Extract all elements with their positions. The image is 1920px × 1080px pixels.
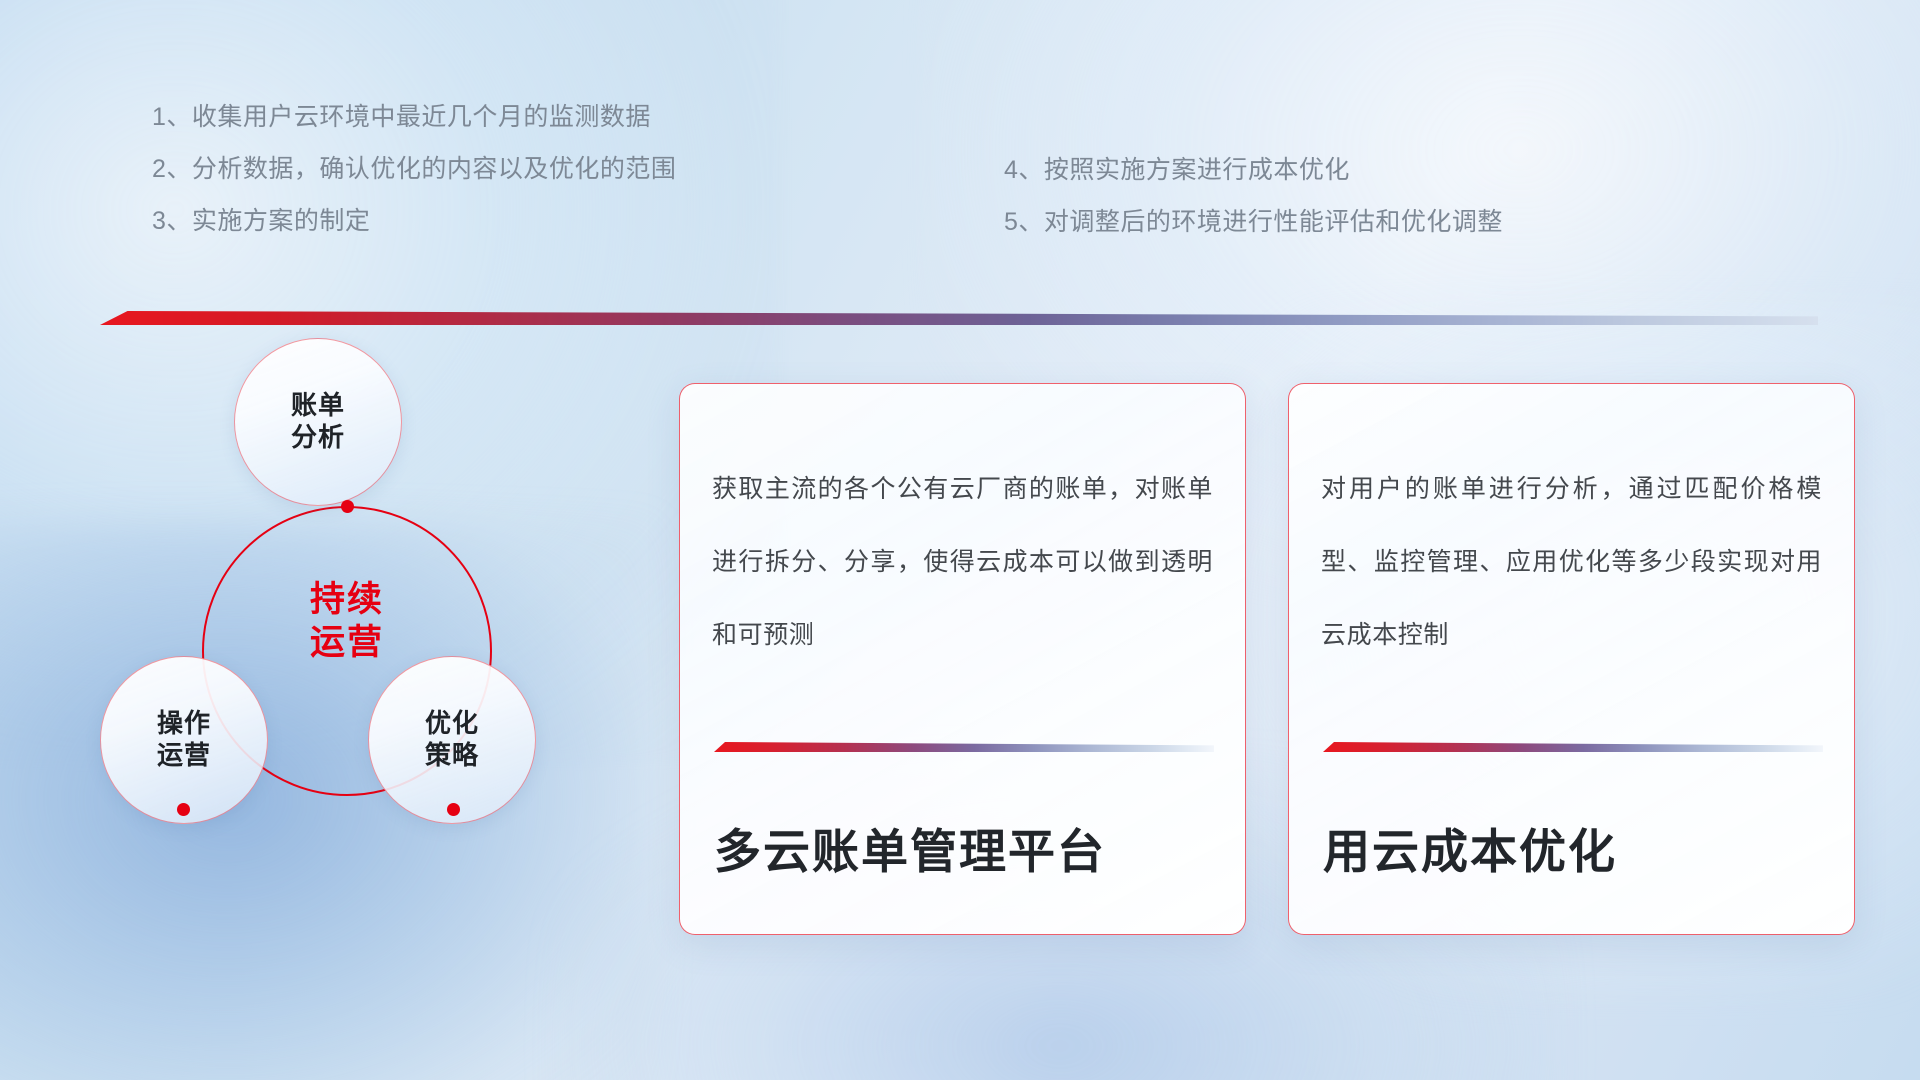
venn-center-label: 持续 运营 bbox=[202, 578, 492, 665]
venn-bubble-operations[interactable]: 操作 运营 bbox=[100, 656, 268, 824]
venn-node-dot-right bbox=[447, 803, 460, 816]
venn-bubble-bill-analysis[interactable]: 账单 分析 bbox=[234, 338, 402, 506]
venn-diagram: 持续 运营 账单 分析 操作 运营 优化 策略 bbox=[96, 348, 636, 928]
header-divider-bar bbox=[100, 311, 1818, 325]
step-item-4: 4、按照实施方案进行成本优化 bbox=[1004, 158, 1503, 183]
slide-canvas: 1、收集用户云环境中最近几个月的监测数据 2、分析数据，确认优化的内容以及优化的… bbox=[0, 0, 1920, 1080]
step-item-5: 5、对调整后的环境进行性能评估和优化调整 bbox=[1004, 210, 1503, 235]
step-item-2: 2、分析数据，确认优化的内容以及优化的范围 bbox=[152, 157, 676, 182]
venn-bubble-bill-analysis-line2: 分析 bbox=[291, 422, 345, 454]
venn-bubble-optimization-strategy-line2: 策略 bbox=[425, 740, 479, 772]
header-divider bbox=[100, 311, 1818, 325]
steps-list-right: 4、按照实施方案进行成本优化 5、对调整后的环境进行性能评估和优化调整 bbox=[1004, 158, 1503, 235]
venn-bubble-optimization-strategy-line1: 优化 bbox=[425, 708, 479, 740]
step-item-1: 1、收集用户云环境中最近几个月的监测数据 bbox=[152, 105, 676, 130]
venn-bubble-operations-line1: 操作 bbox=[157, 708, 211, 740]
venn-bubble-bill-analysis-line1: 账单 bbox=[291, 390, 345, 422]
venn-node-dot-left bbox=[177, 803, 190, 816]
feature-card-multicloud-billing[interactable]: 获取主流的各个公有云厂商的账单，对账单进行拆分、分享，使得云成本可以做到透明和可… bbox=[679, 383, 1246, 935]
venn-center-label-line1: 持续 bbox=[202, 578, 492, 621]
feature-card-1-title: 多云账单管理平台 bbox=[714, 813, 1106, 882]
feature-card-1-body: 获取主流的各个公有云厂商的账单，对账单进行拆分、分享，使得云成本可以做到透明和可… bbox=[712, 453, 1213, 672]
venn-node-dot-top bbox=[341, 500, 354, 513]
feature-card-2-rule bbox=[1323, 742, 1823, 752]
step-item-3: 3、实施方案的制定 bbox=[152, 209, 676, 234]
feature-card-2-title: 用云成本优化 bbox=[1323, 813, 1617, 882]
venn-bubble-operations-line2: 运营 bbox=[157, 740, 211, 772]
steps-list-left: 1、收集用户云环境中最近几个月的监测数据 2、分析数据，确认优化的内容以及优化的… bbox=[152, 105, 676, 234]
feature-card-1-rule bbox=[714, 742, 1214, 752]
feature-card-2-body: 对用户的账单进行分析，通过匹配价格模型、监控管理、应用优化等多少段实现对用云成本… bbox=[1321, 453, 1822, 672]
venn-bubble-optimization-strategy[interactable]: 优化 策略 bbox=[368, 656, 536, 824]
feature-card-cloud-cost-optimization[interactable]: 对用户的账单进行分析，通过匹配价格模型、监控管理、应用优化等多少段实现对用云成本… bbox=[1288, 383, 1855, 935]
